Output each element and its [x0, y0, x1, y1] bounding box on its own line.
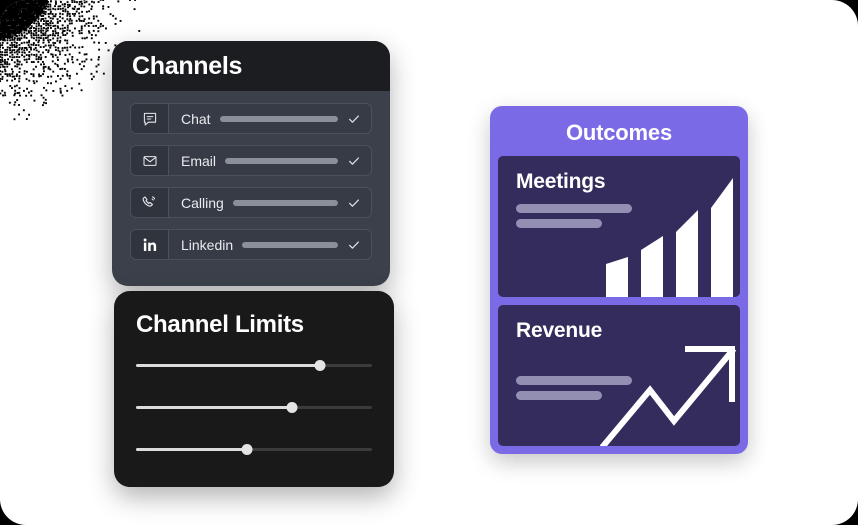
- outcome-title-meetings: Meetings: [516, 170, 605, 194]
- check-icon[interactable]: [347, 196, 361, 210]
- channel-row-email-content: Email: [169, 146, 371, 175]
- channel-progress-pill: [233, 200, 338, 206]
- revenue-placeholder-lines: [516, 376, 632, 400]
- slider-thumb[interactable]: [241, 444, 252, 455]
- channel-limits-card: Channel Limits: [114, 291, 394, 487]
- chat-bubble-icon: [131, 104, 169, 133]
- phone-ring-icon: [131, 188, 169, 217]
- channel-row-calling-content: Calling: [169, 188, 371, 217]
- slider-thumb[interactable]: [315, 360, 326, 371]
- outcome-title-revenue: Revenue: [516, 319, 602, 343]
- limit-slider-3[interactable]: [136, 443, 372, 455]
- outcomes-card: Outcomes Meetings Revenue: [490, 106, 748, 454]
- limit-slider-2[interactable]: [136, 401, 372, 413]
- outcomes-title: Outcomes: [498, 114, 740, 156]
- channel-progress-pill: [225, 158, 338, 164]
- linkedin-icon: [131, 230, 169, 259]
- channel-row-calling[interactable]: Calling: [130, 187, 372, 218]
- placeholder-bar: [516, 376, 632, 385]
- channels-card-header: Channels: [112, 41, 390, 91]
- channel-row-email[interactable]: Email: [130, 145, 372, 176]
- placeholder-bar: [516, 204, 632, 213]
- channel-row-chat-content: Chat: [169, 104, 371, 133]
- slider-fill: [136, 448, 247, 451]
- channel-progress-pill: [220, 116, 338, 122]
- limit-slider-1[interactable]: [136, 359, 372, 371]
- channels-list: Chat Email: [112, 91, 390, 274]
- check-icon[interactable]: [347, 112, 361, 126]
- outcome-panel-meetings[interactable]: Meetings: [498, 156, 740, 297]
- channel-label-email: Email: [181, 153, 216, 169]
- envelope-icon: [131, 146, 169, 175]
- channel-progress-pill: [242, 242, 338, 248]
- check-icon[interactable]: [347, 154, 361, 168]
- placeholder-bar: [516, 391, 602, 400]
- slider-fill: [136, 406, 292, 409]
- channel-row-chat[interactable]: Chat: [130, 103, 372, 134]
- channels-title: Channels: [132, 52, 242, 81]
- channel-label-calling: Calling: [181, 195, 224, 211]
- meetings-placeholder-lines: [516, 204, 632, 228]
- slider-fill: [136, 364, 320, 367]
- channels-card: Channels Chat: [112, 41, 390, 286]
- channel-row-linkedin-content: Linkedin: [169, 230, 371, 259]
- slider-thumb[interactable]: [286, 402, 297, 413]
- outcome-panel-revenue[interactable]: Revenue: [498, 305, 740, 446]
- channel-limits-title: Channel Limits: [136, 311, 304, 339]
- canvas-root: Channels Chat: [0, 0, 858, 525]
- channel-label-linkedin: Linkedin: [181, 237, 233, 253]
- channel-limits-sliders: [136, 359, 372, 455]
- channel-label-chat: Chat: [181, 111, 211, 127]
- check-icon[interactable]: [347, 238, 361, 252]
- channel-row-linkedin[interactable]: Linkedin: [130, 229, 372, 260]
- placeholder-bar: [516, 219, 602, 228]
